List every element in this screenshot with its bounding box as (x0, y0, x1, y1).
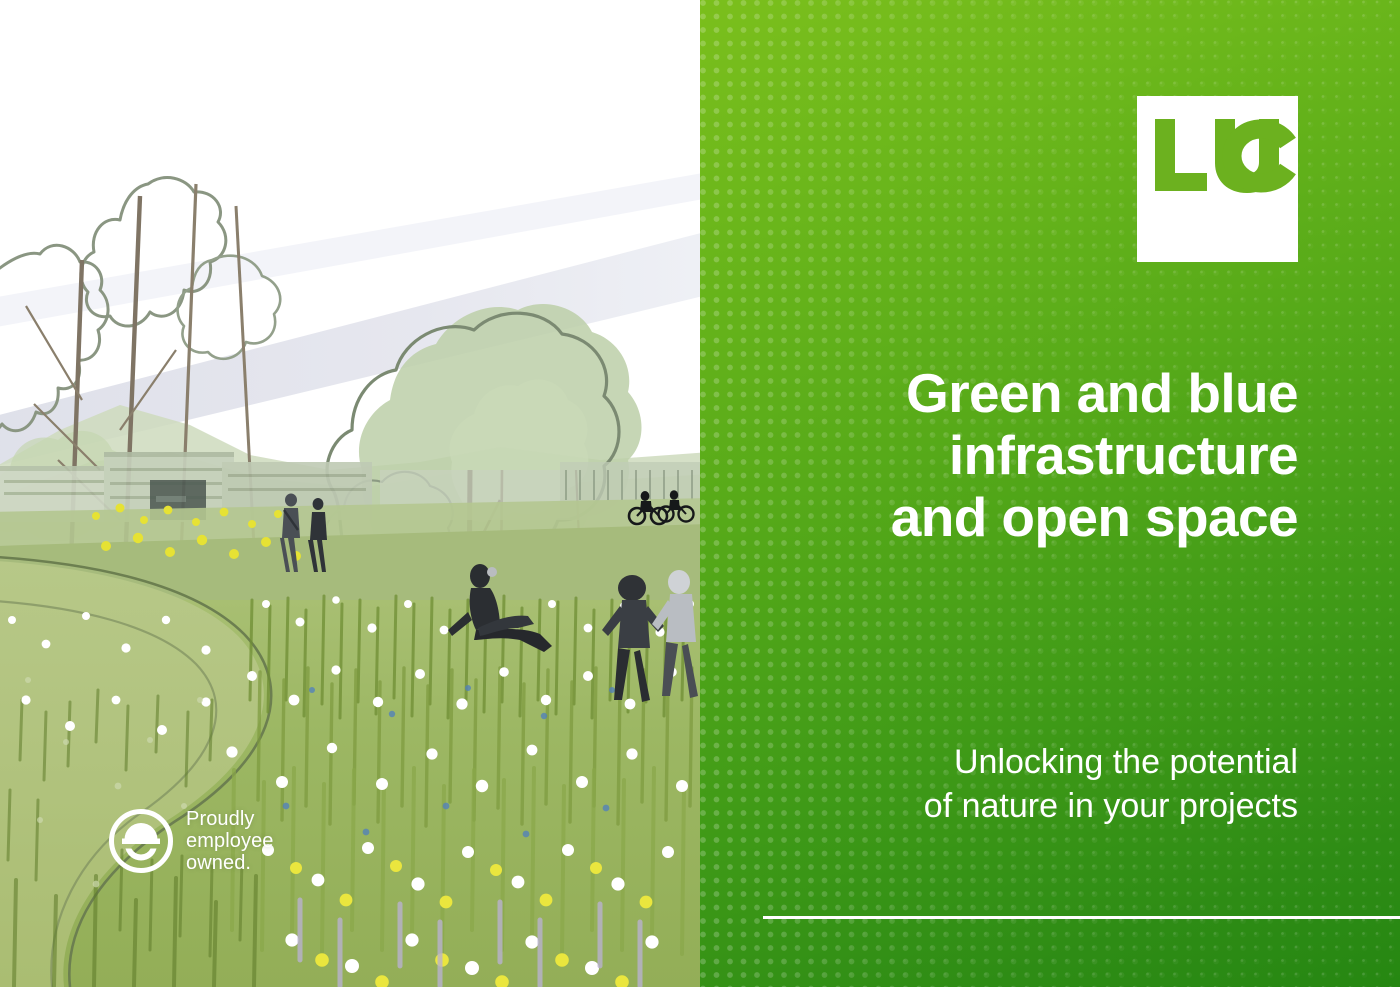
subtitle-line-1: Unlocking the potential (778, 740, 1298, 784)
employee-owned-badge: Proudly employee owned. (108, 808, 274, 874)
eo-line-3: owned. (186, 852, 274, 874)
employee-owned-text: Proudly employee owned. (186, 808, 274, 874)
title-slide: Proudly employee owned. Green and blue i… (0, 0, 1400, 987)
green-title-panel: Green and blue infrastructure and open s… (700, 0, 1400, 987)
page-title: Green and blue infrastructure and open s… (750, 362, 1298, 548)
landscape-illustration-svg (0, 0, 700, 987)
luc-wordmark-icon (1137, 96, 1298, 262)
eo-line-2: employee (186, 830, 274, 852)
title-line-3: and open space (750, 486, 1298, 548)
title-line-1: Green and blue (750, 362, 1298, 424)
landscape-illustration: Proudly employee owned. (0, 0, 700, 987)
luc-logo[interactable] (1137, 96, 1298, 262)
title-line-2: infrastructure (750, 424, 1298, 486)
eo-line-1: Proudly (186, 808, 274, 830)
employee-owned-e-icon (108, 808, 174, 874)
horizontal-rule (763, 916, 1400, 919)
page-subtitle: Unlocking the potential of nature in you… (778, 740, 1298, 828)
subtitle-line-2: of nature in your projects (778, 784, 1298, 828)
